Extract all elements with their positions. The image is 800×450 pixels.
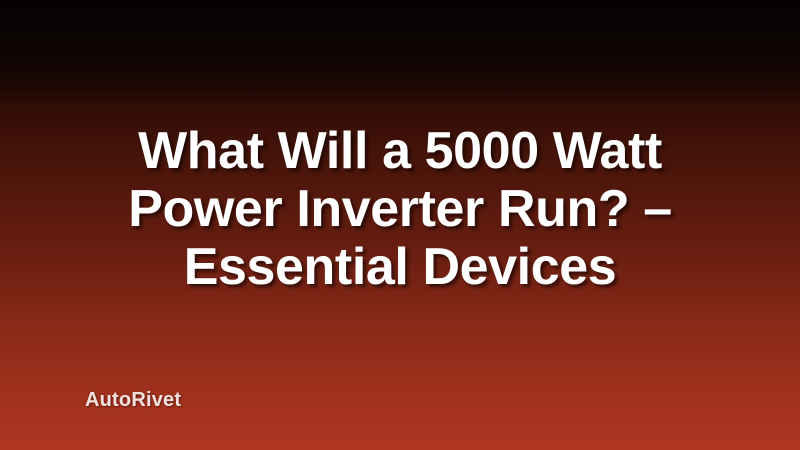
title-line-1: What Will a 5000 Watt [48, 122, 752, 180]
title-line-3: Essential Devices [48, 238, 752, 296]
thumbnail-canvas: What Will a 5000 Watt Power Inverter Run… [0, 0, 800, 450]
title-line-2: Power Inverter Run? – [48, 180, 752, 238]
page-title: What Will a 5000 Watt Power Inverter Run… [0, 122, 800, 296]
brand-watermark: AutoRivet [85, 388, 181, 412]
